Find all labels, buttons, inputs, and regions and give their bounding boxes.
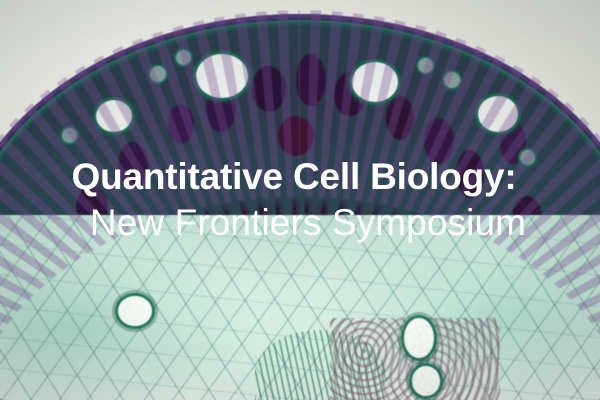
title-line-primary: Quantitative Cell Biology: xyxy=(0,150,600,195)
symposium-banner: Quantitative Cell Biology: New Frontiers… xyxy=(0,0,600,400)
banner-title: Quantitative Cell Biology: New Frontiers… xyxy=(0,150,600,241)
title-line-secondary: New Frontiers Symposium xyxy=(16,204,600,241)
